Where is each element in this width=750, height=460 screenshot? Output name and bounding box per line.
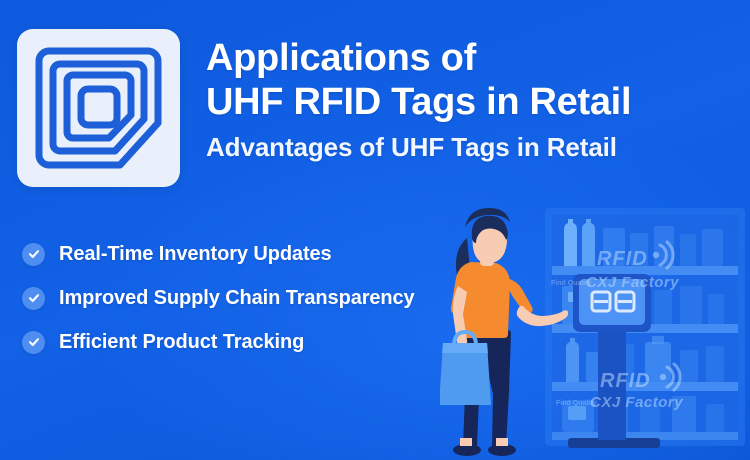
banner-header: Applications of UHF RFID Tags in Retail … bbox=[0, 0, 750, 200]
list-item: Improved Supply Chain Transparency bbox=[22, 276, 522, 320]
headline-line-2: UHF RFID Tags in Retail bbox=[206, 80, 746, 124]
list-item: Real-Time Inventory Updates bbox=[22, 232, 522, 276]
advantages-list: Real-Time Inventory Updates Improved Sup… bbox=[22, 232, 522, 364]
title-block: Applications of UHF RFID Tags in Retail … bbox=[206, 36, 746, 164]
list-item-label: Efficient Product Tracking bbox=[59, 331, 304, 354]
list-item: Efficient Product Tracking bbox=[22, 320, 522, 364]
rfid-chip-logo-tile bbox=[17, 29, 180, 187]
check-circle-icon bbox=[22, 331, 45, 354]
list-item-label: Real-Time Inventory Updates bbox=[59, 243, 332, 266]
check-circle-icon bbox=[22, 243, 45, 266]
headline-line-1: Applications of bbox=[206, 36, 746, 80]
check-circle-icon bbox=[22, 287, 45, 310]
rfid-retail-banner: Applications of UHF RFID Tags in Retail … bbox=[0, 0, 750, 460]
rfid-chip-icon bbox=[17, 29, 180, 187]
subheadline: Advantages of UHF Tags in Retail bbox=[206, 130, 746, 164]
list-item-label: Improved Supply Chain Transparency bbox=[59, 287, 415, 310]
